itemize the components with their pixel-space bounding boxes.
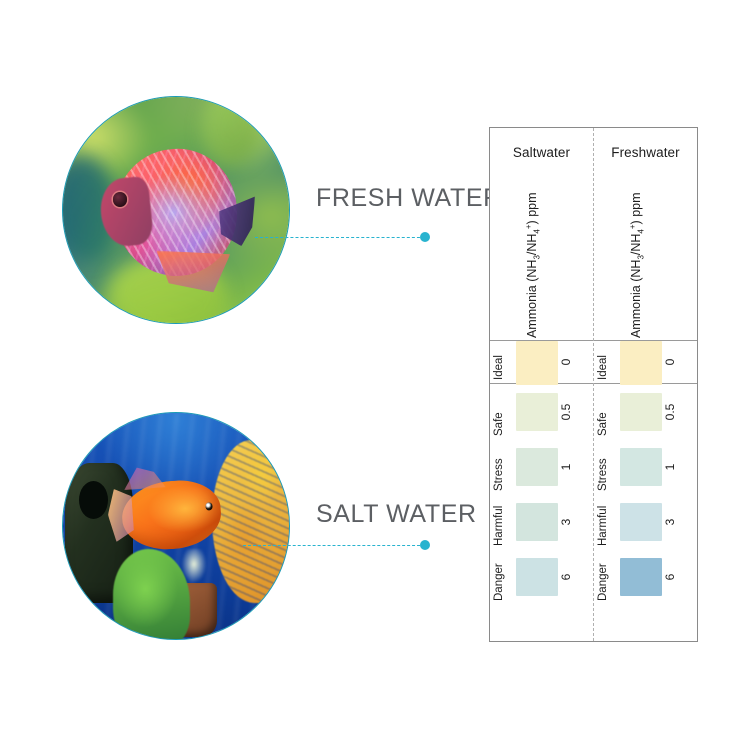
ammonia-axis-label: Ammonia (NH3/NH4+) ppm	[524, 192, 541, 338]
color-swatch	[516, 341, 558, 385]
color-swatch	[620, 448, 662, 486]
row-value: 3	[663, 518, 677, 525]
row-label: Safe	[597, 412, 609, 436]
row-label: Safe	[493, 412, 505, 436]
saltwater-photo-circle	[62, 412, 290, 640]
row-value-cell: 3	[558, 494, 587, 549]
saltwater-photo	[63, 413, 289, 639]
row-value-cell: 0.5	[558, 384, 587, 439]
table-row: Ideal 0	[490, 340, 593, 384]
yellow-plant	[212, 440, 290, 603]
row-label: Stress	[597, 458, 609, 491]
salt-water-label: SALT WATER	[316, 500, 477, 529]
row-value-cell: 1	[662, 439, 691, 494]
axis-sub-3: 3	[636, 255, 645, 259]
row-value: 1	[559, 463, 573, 470]
row-value-cell: 6	[558, 549, 587, 604]
row-value: 0	[559, 359, 573, 366]
row-value: 6	[559, 573, 573, 580]
axis-sub-4: 4	[532, 229, 541, 233]
freshwater-photo	[63, 97, 289, 323]
row-value-cell: 1	[558, 439, 587, 494]
row-label: Ideal	[493, 355, 505, 380]
table-row: Stress 1	[594, 439, 697, 494]
row-name-cell: Safe	[598, 384, 620, 439]
row-value-cell: 0.5	[662, 384, 691, 439]
row-name-cell: Danger	[494, 549, 516, 604]
color-swatch	[620, 341, 662, 385]
color-swatch	[516, 558, 558, 596]
row-label: Danger	[493, 563, 505, 601]
row-name-cell: Ideal	[598, 341, 620, 383]
row-value-cell: 0	[558, 341, 587, 383]
row-label: Harmful	[597, 506, 609, 546]
row-name-cell: Harmful	[598, 494, 620, 549]
table-row: Stress 1	[490, 439, 593, 494]
axis-text-close: ) ppm	[629, 192, 643, 224]
color-swatch	[516, 448, 558, 486]
axis-sup-plus: +	[523, 224, 532, 229]
axis-sub-3: 3	[532, 255, 541, 259]
row-name-cell: Ideal	[494, 341, 516, 383]
color-swatch	[516, 393, 558, 431]
axis-label-container-saltwater: Ammonia (NH3/NH4+) ppm	[490, 160, 593, 340]
ammonia-reference-chart: Saltwater Ammonia (NH3/NH4+) ppm Ideal 0…	[489, 127, 698, 642]
row-value: 6	[663, 573, 677, 580]
axis-text-main: Ammonia (NH	[629, 260, 643, 339]
table-row: Danger 6	[490, 549, 593, 604]
swatch-rows-saltwater: Ideal 0 Safe 0.5 Stress	[490, 340, 593, 641]
row-name-cell: Stress	[598, 439, 620, 494]
table-row: Safe 0.5	[594, 384, 697, 439]
axis-text-mid: /NH	[525, 234, 539, 256]
row-value: 0.5	[663, 403, 677, 420]
row-label: Harmful	[493, 506, 505, 546]
row-value: 3	[559, 518, 573, 525]
axis-sup-plus: +	[627, 224, 636, 229]
chart-column-saltwater: Saltwater Ammonia (NH3/NH4+) ppm Ideal 0…	[490, 128, 593, 641]
row-name-cell: Stress	[494, 439, 516, 494]
table-row: Ideal 0	[594, 340, 697, 384]
color-swatch	[620, 503, 662, 541]
fish-eye	[113, 192, 128, 207]
ammonia-axis-label: Ammonia (NH3/NH4+) ppm	[628, 192, 645, 338]
row-name-cell: Danger	[598, 549, 620, 604]
dashed-line	[255, 237, 425, 238]
row-name-cell: Harmful	[494, 494, 516, 549]
row-value-cell: 6	[662, 549, 691, 604]
row-label: Danger	[597, 563, 609, 601]
table-row: Harmful 3	[490, 494, 593, 549]
color-swatch	[620, 558, 662, 596]
freshwater-photo-circle	[62, 96, 290, 324]
axis-text-close: ) ppm	[525, 192, 539, 224]
axis-text-mid: /NH	[629, 234, 643, 256]
row-label: Stress	[493, 458, 505, 491]
fish-eye	[205, 502, 212, 510]
connector-dot	[420, 540, 430, 550]
axis-label-container-freshwater: Ammonia (NH3/NH4+) ppm	[594, 160, 697, 340]
swatch-rows-freshwater: Ideal 0 Safe 0.5 Stress	[594, 340, 697, 641]
table-row: Safe 0.5	[490, 384, 593, 439]
connector-dot	[420, 232, 430, 242]
chart-column-freshwater: Freshwater Ammonia (NH3/NH4+) ppm Ideal …	[593, 128, 697, 641]
column-title-saltwater: Saltwater	[490, 128, 593, 160]
row-value: 0	[663, 359, 677, 366]
color-swatch	[620, 393, 662, 431]
dashed-line	[243, 545, 425, 546]
row-name-cell: Safe	[494, 384, 516, 439]
row-label: Ideal	[597, 355, 609, 380]
axis-sub-4: 4	[636, 229, 645, 233]
row-value: 0.5	[559, 403, 573, 420]
axis-text-main: Ammonia (NH	[525, 260, 539, 339]
row-value-cell: 3	[662, 494, 691, 549]
table-row: Danger 6	[594, 549, 697, 604]
color-swatch	[516, 503, 558, 541]
row-value: 1	[663, 463, 677, 470]
row-value-cell: 0	[662, 341, 691, 383]
table-row: Harmful 3	[594, 494, 697, 549]
fresh-water-label: FRESH WATER	[316, 184, 502, 213]
column-title-freshwater: Freshwater	[594, 128, 697, 160]
